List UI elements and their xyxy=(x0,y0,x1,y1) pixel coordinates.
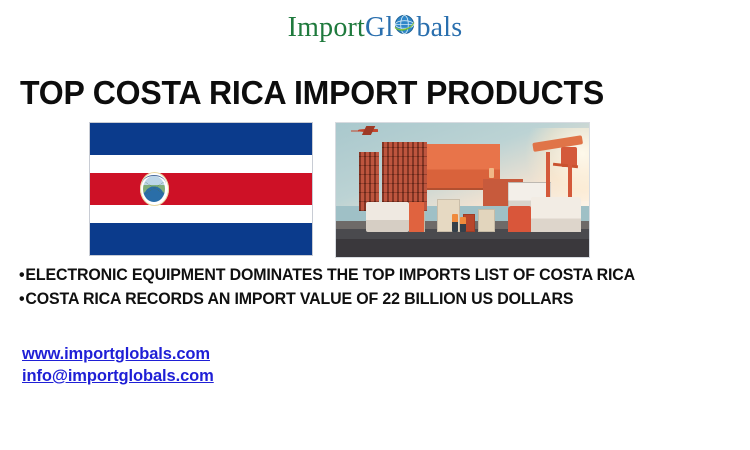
bullet-marker: • xyxy=(19,290,24,308)
flag-stripe-red xyxy=(90,173,312,205)
bullet-item-1: •ELECTRONIC EQUIPMENT DOMINATES THE TOP … xyxy=(19,263,722,287)
bullet-text: COSTA RICA RECORDS AN IMPORT VALUE OF 22… xyxy=(25,290,573,308)
bullet-marker: • xyxy=(19,266,24,284)
logo-text-import: Import xyxy=(288,12,365,43)
delivery-truck-right xyxy=(531,197,582,232)
port-ground xyxy=(336,229,589,257)
coat-of-arms-emblem xyxy=(140,172,169,206)
cargo-box xyxy=(478,209,496,232)
website-link[interactable]: www.importglobals.com xyxy=(22,343,214,365)
bullet-item-2: •COSTA RICA RECORDS AN IMPORT VALUE OF 2… xyxy=(19,287,722,311)
delivery-truck-left xyxy=(366,202,409,231)
brand-logo[interactable]: ImportGl bals xyxy=(0,11,750,45)
airplane-icon xyxy=(351,126,384,135)
email-link[interactable]: info@importglobals.com xyxy=(22,365,214,387)
page-title: TOP COSTA RICA IMPORT PRODUCTS xyxy=(20,74,711,112)
contact-links: www.importglobals.com info@importglobals… xyxy=(22,343,214,387)
bullet-list: •ELECTRONIC EQUIPMENT DOMINATES THE TOP … xyxy=(19,263,733,311)
flag-stripe-white-top xyxy=(90,155,312,173)
logo-text-bals: bals xyxy=(416,12,462,43)
container-stack-center xyxy=(382,142,428,212)
flag-stripe-white-bottom xyxy=(90,205,312,223)
coat-of-arms-volcanoes xyxy=(145,182,165,194)
costa-rica-flag xyxy=(89,122,313,256)
flag-stripe-blue-top xyxy=(90,123,312,155)
bullet-text: ELECTRONIC EQUIPMENT DOMINATES THE TOP I… xyxy=(25,266,635,284)
dock-worker xyxy=(452,214,458,231)
shipping-port-illustration xyxy=(335,122,590,258)
flag-stripe-blue-bottom xyxy=(90,223,312,255)
globe-icon xyxy=(393,13,416,36)
logo-text-gl: Gl xyxy=(365,12,393,43)
coat-of-arms-stars-arc xyxy=(142,175,166,184)
dock-worker xyxy=(460,217,466,232)
